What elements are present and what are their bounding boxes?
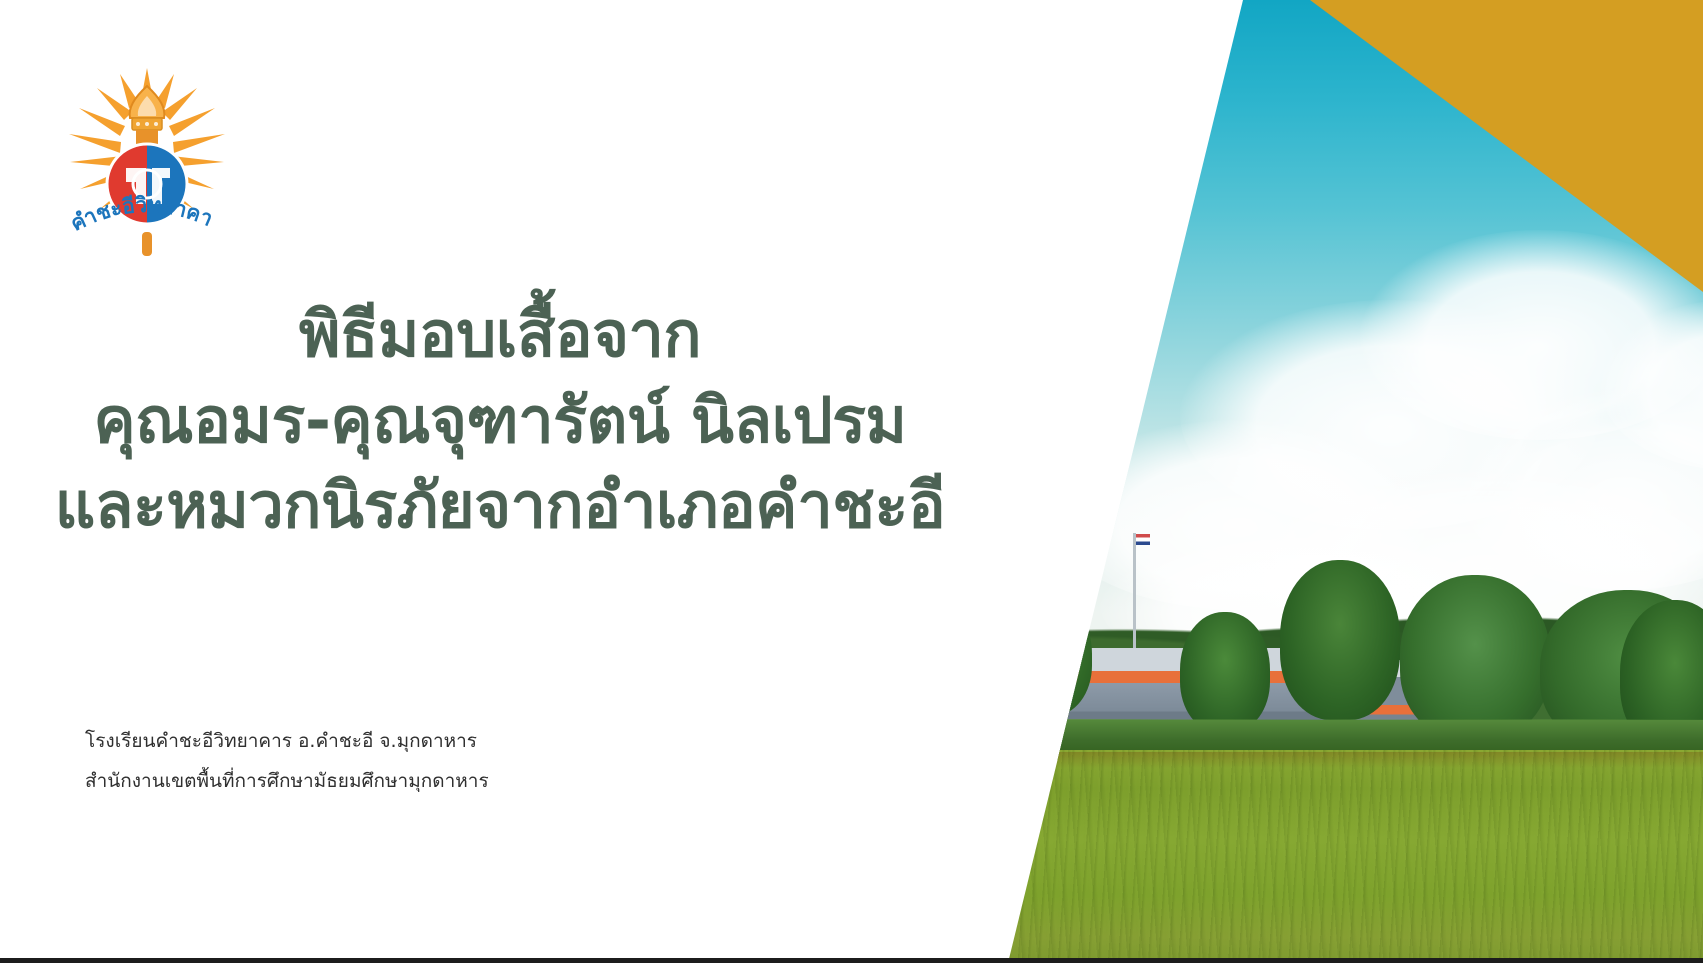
bottom-edge-strip [0, 958, 1703, 963]
slide-title: พิธีมอบเสื้อจาก คุณอมร-คุณจุฑารัตน์ นิลเ… [0, 292, 1000, 549]
tree [1280, 560, 1400, 720]
torch-base [142, 232, 152, 256]
tree [1000, 596, 1092, 716]
school-crest-logo: คำชะอีวิทยาคาร [52, 46, 242, 258]
title-line-1: พิธีมอบเสื้อจาก [0, 292, 1000, 378]
presentation-slide: คำชะอีวิทยาคาร พิธีมอบเสื้อจาก คุณอมร-คุ… [0, 0, 1703, 963]
thai-flag-icon [1136, 534, 1150, 545]
crest-svg: คำชะอีวิทยาคาร [52, 46, 242, 258]
slide-footer: โรงเรียนคำชะอีวิทยาคาร อ.คำชะอี จ.มุกดาห… [85, 722, 489, 802]
title-line-3: และหมวกนิรภัยจากอำเภอคำชะอี [0, 463, 1000, 549]
torch-flame [130, 86, 165, 118]
footer-line-school: โรงเรียนคำชะอีวิทยาคาร อ.คำชะอี จ.มุกดาห… [85, 722, 489, 762]
title-line-2: คุณอมร-คุณจุฑารัตน์ นิลเปรม [0, 378, 1000, 464]
footer-line-office: สำนักงานเขตพื้นที่การศึกษามัธยมศึกษามุกด… [85, 762, 489, 802]
